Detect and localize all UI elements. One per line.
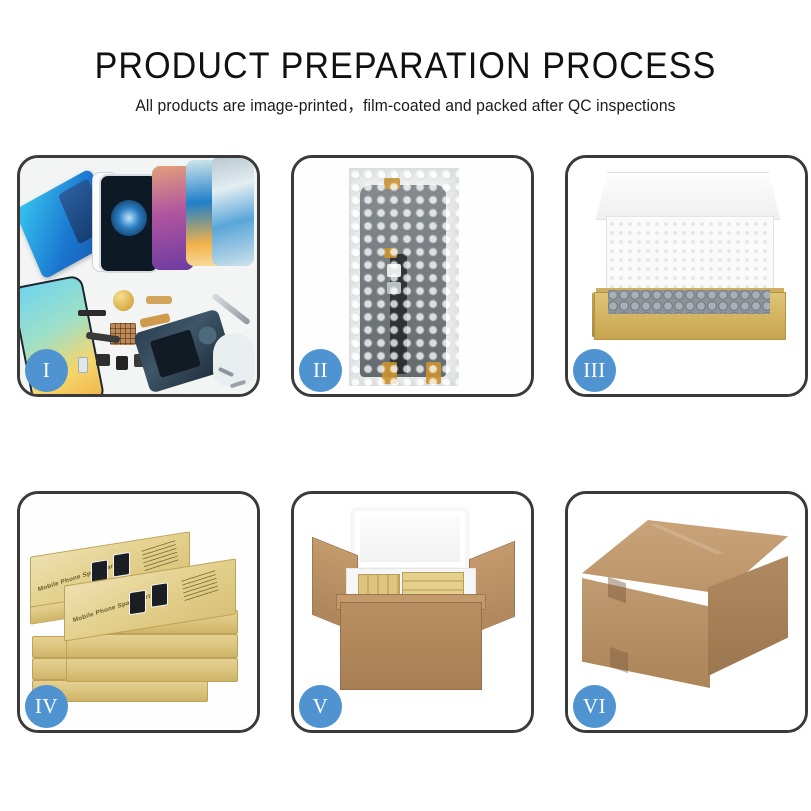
box-screen-image-4: [151, 582, 168, 608]
flex-cable-icon-2: [146, 296, 172, 304]
step-badge-3: III: [573, 349, 616, 392]
box-screen-image-3: [129, 590, 146, 616]
step-card-4: Mobile Phone Spare Parts Mobile Phone Sp…: [17, 491, 260, 733]
speaker-component-icon: [113, 290, 134, 311]
tape-tab-icon: [384, 178, 400, 189]
header: PRODUCT PREPARATION PROCESS All products…: [0, 44, 811, 117]
small-part-icon-2: [116, 356, 128, 370]
earpiece-component-icon: [78, 310, 106, 316]
step-badge-2: II: [299, 349, 342, 392]
phone-silver-icon: [212, 158, 254, 266]
box-lid-icon: [596, 172, 780, 220]
foam-sheet-icon: [608, 220, 772, 292]
step-badge-6: VI: [573, 685, 616, 728]
gold-box-stack: Mobile Phone Spare Parts Mobile Phone Sp…: [26, 508, 252, 718]
gold-contact-icon-3: [384, 248, 397, 258]
carton-body-icon: [340, 602, 482, 690]
box-spec-list-2: [181, 570, 218, 602]
process-steps-grid: I II: [17, 155, 794, 733]
gold-box-right-layer-2: [66, 634, 238, 658]
gold-contact-icon-1: [382, 362, 397, 384]
gold-contact-icon-2: [426, 362, 441, 384]
step-badge-5: V: [299, 685, 342, 728]
bubble-wrapped-contents-icon: [608, 290, 770, 314]
small-part-icon-4: [78, 357, 88, 373]
phone-black-icon: [99, 174, 159, 273]
box-spec-list-1: [141, 540, 178, 572]
step-card-6: VI: [565, 491, 808, 733]
step-badge-1: I: [25, 349, 68, 392]
connector-icon-2: [387, 282, 401, 294]
page-title: PRODUCT PREPARATION PROCESS: [32, 44, 778, 88]
step-card-1: I: [17, 155, 260, 397]
box-screen-image-2: [113, 552, 130, 578]
page-subtitle: All products are image-printed，film-coat…: [20, 95, 790, 117]
hand-icon: [213, 334, 255, 386]
connector-icon-1: [387, 264, 401, 277]
small-part-icon-1: [96, 354, 110, 366]
step-card-2: II: [291, 155, 534, 397]
infographic-page: PRODUCT PREPARATION PROCESS All products…: [0, 0, 811, 811]
gold-box-right-layer-3: [66, 658, 238, 682]
step-badge-4: IV: [25, 685, 68, 728]
step-card-5: V: [291, 491, 534, 733]
step-card-3: III: [565, 155, 808, 397]
foam-lid-icon: [352, 508, 468, 570]
carton-front-face-icon: [582, 578, 710, 688]
